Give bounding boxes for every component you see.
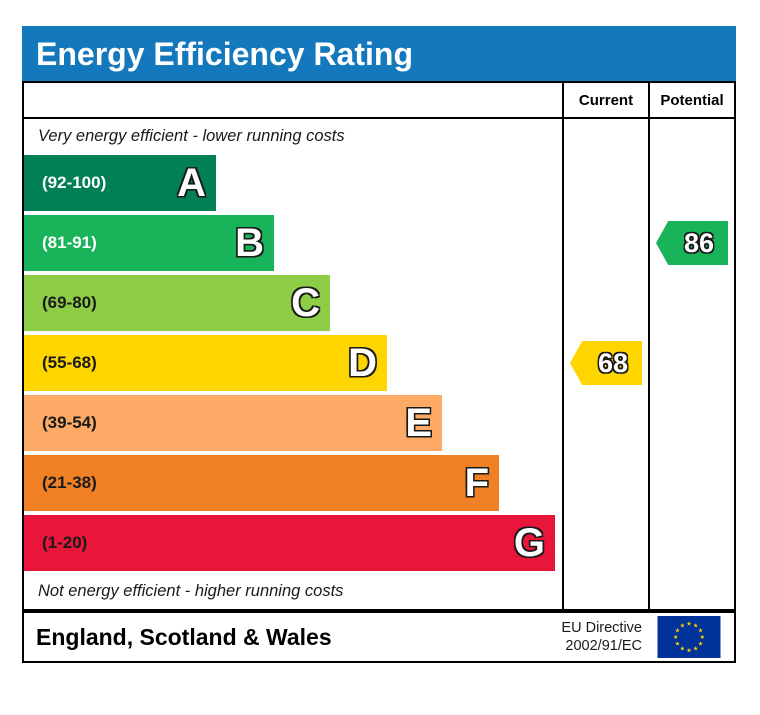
band-letter-b: B: [235, 223, 264, 263]
certificate-footer: England, Scotland & Wales EU Directive 2…: [22, 611, 736, 663]
band-letter-c: C: [291, 283, 320, 323]
band-range-label: (55-68): [24, 353, 97, 373]
potential-column-top-spacer: [648, 119, 734, 153]
current-column-bottom-spacer: [562, 575, 648, 609]
band-b: (81-91)B: [24, 215, 274, 271]
bands-row: (92-100)A(81-91)B(69-80)C(55-68)D(39-54)…: [24, 153, 734, 575]
page-title: Energy Efficiency Rating: [36, 38, 413, 70]
top-note-cell: Very energy efficient - lower running co…: [24, 119, 562, 153]
band-list: (92-100)A(81-91)B(69-80)C(55-68)D(39-54)…: [24, 153, 562, 575]
energy-efficiency-certificate: Energy Efficiency Rating Current Potenti…: [22, 26, 736, 663]
band-c: (69-80)C: [24, 275, 330, 331]
column-header-current: Current: [562, 83, 648, 117]
current-rating-marker: 68: [570, 341, 642, 385]
current-rating-column: 68: [562, 153, 648, 575]
efficiency-note-top: Very energy efficient - lower running co…: [24, 119, 562, 153]
band-g: (1-20)G: [24, 515, 555, 571]
potential-column-bottom-spacer: [648, 575, 734, 609]
region-label: England, Scotland & Wales: [24, 624, 561, 651]
eu-directive-label: EU Directive 2002/91/EC: [561, 619, 650, 655]
top-note-row: Very energy efficient - lower running co…: [24, 119, 734, 153]
bottom-note-cell: Not energy efficient - higher running co…: [24, 575, 562, 609]
band-a: (92-100)A: [24, 155, 216, 211]
eu-directive-line-2: 2002/91/EC: [561, 637, 642, 655]
potential-rating-marker-value: 86: [670, 230, 714, 257]
potential-rating-column: 86: [648, 153, 734, 575]
eu-flag-icon: [650, 616, 728, 658]
band-letter-d: D: [348, 343, 377, 383]
column-header-blank: [24, 83, 562, 117]
band-range-label: (21-38): [24, 473, 97, 493]
band-letter-g: G: [514, 523, 545, 563]
current-rating-marker-value: 68: [584, 350, 628, 377]
bands-column: (92-100)A(81-91)B(69-80)C(55-68)D(39-54)…: [24, 153, 562, 575]
band-e: (39-54)E: [24, 395, 442, 451]
band-range-label: (1-20): [24, 533, 87, 553]
band-letter-f: F: [465, 463, 489, 503]
current-column-top-spacer: [562, 119, 648, 153]
band-range-label: (81-91): [24, 233, 97, 253]
chart-header: Energy Efficiency Rating: [22, 26, 736, 81]
band-range-label: (69-80): [24, 293, 97, 313]
eu-directive-line-1: EU Directive: [561, 619, 642, 637]
bottom-note-row: Not energy efficient - higher running co…: [24, 575, 734, 609]
rating-table: Current Potential Very energy efficient …: [22, 81, 736, 611]
band-letter-e: E: [405, 403, 432, 443]
band-range-label: (92-100): [24, 173, 106, 193]
column-header-potential: Potential: [648, 83, 734, 117]
band-letter-a: A: [177, 163, 206, 203]
table-column-headers: Current Potential: [24, 83, 734, 119]
band-f: (21-38)F: [24, 455, 499, 511]
band-d: (55-68)D: [24, 335, 387, 391]
efficiency-note-bottom: Not energy efficient - higher running co…: [24, 575, 562, 609]
potential-rating-marker: 86: [656, 221, 728, 265]
band-range-label: (39-54): [24, 413, 97, 433]
